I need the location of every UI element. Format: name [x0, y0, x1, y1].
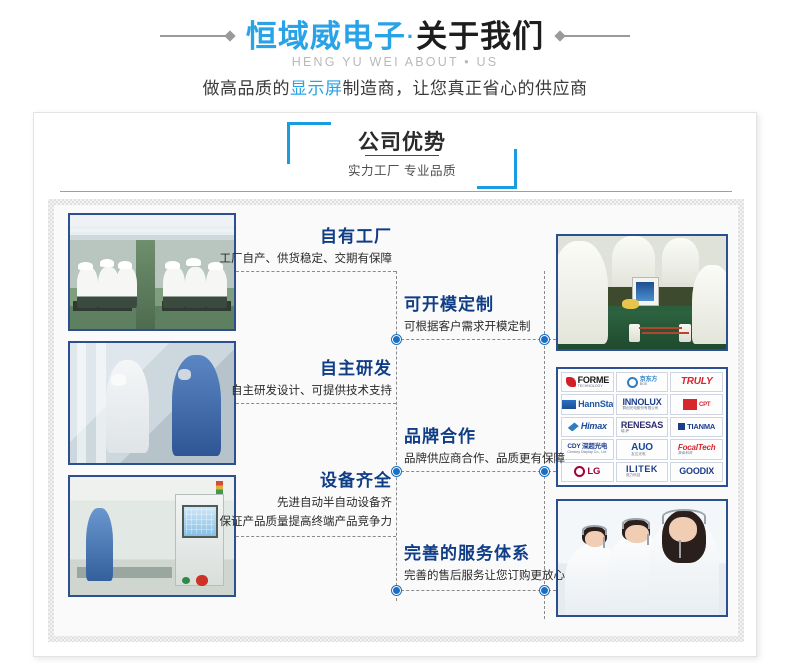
- feature-service-system: 完善的服务体系 完善的售后服务让您订购更放心: [404, 544, 564, 586]
- brand-name: TIANMA: [687, 423, 715, 431]
- leader-left-1: [236, 271, 396, 272]
- diamond-icon: [224, 30, 235, 41]
- feature-title: 自主研发: [188, 359, 392, 379]
- brand-name: INNOLUX群创光电股份有限公司: [622, 398, 661, 411]
- feature-custom-mold: 可开模定制 可根据客户需求开模定制: [404, 295, 554, 337]
- leader-right-2: [396, 471, 556, 472]
- brand-logo-innolux: INNOLUX群创光电股份有限公司: [622, 398, 661, 411]
- brand-name: FORMETECHNOLOGY: [578, 376, 610, 389]
- brand-cell: FocalTech敦泰科技: [670, 439, 723, 459]
- brand-logo-tianma: TIANMA: [678, 423, 715, 431]
- feature-own-factory: 自有工厂 工厂自产、供货稳定、交期有保障: [188, 227, 392, 269]
- brand-logo-himax: Himax: [568, 422, 607, 431]
- brand-logo-cpt: CPT: [683, 399, 710, 410]
- brand-cell: TIANMA: [670, 417, 723, 437]
- brand-name: FocalTech敦泰科技: [678, 444, 715, 456]
- brand-mark-icon: [561, 400, 576, 409]
- diamond-icon: [554, 30, 565, 41]
- tagline-part-2: 制造商，让您真正省心的供应商: [343, 79, 588, 98]
- page-title-section: 关于我们: [416, 19, 544, 54]
- brand-cell: TRULY: [670, 372, 723, 392]
- brand-mark-icon: [627, 377, 638, 388]
- brand-cell: HannStar: [561, 394, 614, 414]
- section-heading: 公司优势 实力工厂 专业品质: [287, 122, 517, 184]
- feature-desc: 工厂自产、供货稳定、交期有保障: [188, 251, 392, 268]
- custom-mold-assembly-photo: [556, 234, 728, 351]
- page-title: 恒域威电子·关于我们: [246, 21, 544, 52]
- section-title-rule: [365, 155, 439, 156]
- brand-cell: FORMETECHNOLOGY: [561, 372, 614, 392]
- feature-desc: 品牌供应商合作、品质更有保障: [404, 451, 564, 468]
- feature-title: 自有工厂: [188, 227, 392, 247]
- brand-subtitle: 敦泰科技: [678, 452, 715, 456]
- feature-title: 设备齐全: [168, 471, 392, 491]
- brand-cell: LG: [561, 462, 614, 482]
- brand-cell: CPT: [670, 394, 723, 414]
- feature-desc: 自主研发设计、可提供技术支持: [188, 383, 392, 400]
- brand-subtitle: 群创光电股份有限公司: [622, 407, 661, 411]
- brand-name: AUO友达光电: [631, 443, 653, 457]
- brand-name: RENESAS瑞 萨: [621, 421, 663, 434]
- leader-left-3: [236, 536, 396, 537]
- brand-logo-grid: FORMETECHNOLOGY京东方BOETRULYHannStarINNOLU…: [556, 367, 728, 487]
- brand-mark-icon: [566, 377, 576, 387]
- brand-subtitle: 瑞 萨: [621, 430, 663, 434]
- timeline-spine-left: [396, 271, 397, 601]
- brand-name: Himax: [581, 422, 607, 431]
- page-title-brand: 恒域威电子: [246, 19, 406, 54]
- brand-logo-renesas: RENESAS瑞 萨: [621, 421, 663, 434]
- advantages-panel: 公司优势 实力工厂 专业品质: [33, 112, 757, 657]
- brand-mark-icon: [683, 399, 697, 410]
- brand-logo-focaltech: FocalTech敦泰科技: [678, 444, 715, 456]
- title-separator-dot: ·: [406, 24, 416, 49]
- brand-logo-auo: AUO友达光电: [631, 443, 653, 457]
- right-decorative-line: [558, 35, 630, 37]
- brand-mark-icon: [568, 422, 579, 431]
- brand-logo-ilitek: ILITEK奕力科技: [626, 465, 658, 478]
- feature-desc: 完善的售后服务让您订购更放心: [404, 568, 564, 585]
- feature-brand-cooperation: 品牌合作 品牌供应商合作、品质更有保障: [404, 427, 564, 469]
- brand-cell: CDY 深超光电Century Display Co., Ltd: [561, 439, 614, 459]
- brand-subtitle: 奕力科技: [626, 474, 658, 478]
- customer-service-team-photo: [556, 499, 728, 617]
- tagline-highlight: 显示屏: [290, 79, 343, 98]
- brand-cell: GOODIX: [670, 462, 723, 482]
- feature-desc-line-1: 先进自动半自动设备齐: [168, 495, 392, 512]
- brand-cell: 京东方BOE: [616, 372, 669, 392]
- leader-left-2: [236, 403, 396, 404]
- feature-title: 可开模定制: [404, 295, 554, 315]
- timeline-node-3: [392, 586, 401, 595]
- brand-logo-cdy: CDY 深超光电Century Display Co., Ltd: [567, 444, 607, 454]
- brand-name: CPT: [699, 402, 710, 408]
- brand-subtitle: BOE: [640, 383, 657, 387]
- about-us-page: 恒域威电子·关于我们 HENG YU WEI ABOUT • US 做高品质的显…: [0, 0, 790, 668]
- leader-right-3: [396, 590, 556, 591]
- leader-right-1: [396, 339, 556, 340]
- brand-mark-icon: [678, 423, 685, 430]
- section-title: 公司优势: [287, 126, 517, 156]
- brand-subtitle: TECHNOLOGY: [578, 385, 610, 389]
- header-divider: [60, 191, 732, 192]
- brand-subtitle: 友达光电: [631, 453, 653, 457]
- feature-self-rnd: 自主研发 自主研发设计、可提供技术支持: [188, 359, 392, 401]
- page-tagline: 做高品质的显示屏制造商，让您真正省心的供应商: [0, 74, 790, 99]
- brand-name: 京东方BOE: [640, 377, 657, 387]
- brand-logo-lg: LG: [574, 466, 600, 477]
- brand-subtitle: Century Display Co., Ltd: [567, 451, 607, 455]
- brand-logo-truly: TRULY: [681, 377, 713, 387]
- brand-mark-icon: [574, 466, 585, 477]
- feature-title: 完善的服务体系: [404, 544, 564, 564]
- brand-logo-goodix: GOODIX: [679, 467, 714, 476]
- content-texture-area: FORMETECHNOLOGY京东方BOETRULYHannStarINNOLU…: [48, 199, 744, 642]
- timeline-node-1: [392, 335, 401, 344]
- brand-name: HannStar: [578, 400, 614, 409]
- timeline-node-6: [540, 586, 549, 595]
- brand-name: ILITEK奕力科技: [626, 465, 658, 478]
- feature-full-equipment: 设备齐全 先进自动半自动设备齐 保证产品质量提高终端产品竞争力: [168, 471, 392, 531]
- brand-cell: AUO友达光电: [616, 439, 669, 459]
- brand-name: TRULY: [681, 377, 713, 387]
- feature-desc-line-2: 保证产品质量提高终端产品竞争力: [168, 514, 392, 531]
- title-row: 恒域威电子·关于我们: [0, 14, 790, 58]
- brand-name: GOODIX: [679, 467, 714, 476]
- brand-name: CDY 深超光电Century Display Co., Ltd: [567, 444, 607, 454]
- page-subtitle-english: HENG YU WEI ABOUT • US: [0, 55, 790, 69]
- brand-cell: RENESAS瑞 萨: [616, 417, 669, 437]
- brand-logo-forme: FORMETECHNOLOGY: [566, 376, 610, 389]
- feature-title: 品牌合作: [404, 427, 564, 447]
- brand-logo-hannstar: HannStar: [561, 400, 614, 409]
- timeline-node-2: [392, 467, 401, 476]
- tagline-part-1: 做高品质的: [203, 79, 291, 98]
- brand-grid-container: FORMETECHNOLOGY京东方BOETRULYHannStarINNOLU…: [561, 372, 723, 482]
- brand-cell: INNOLUX群创光电股份有限公司: [616, 394, 669, 414]
- brand-cell: Himax: [561, 417, 614, 437]
- brand-logo-boe: 京东方BOE: [627, 377, 657, 388]
- feature-desc: 可根据客户需求开模定制: [404, 319, 554, 336]
- brand-name: LG: [587, 467, 600, 477]
- brand-cell: ILITEK奕力科技: [616, 462, 669, 482]
- page-header: 恒域威电子·关于我们 HENG YU WEI ABOUT • US 做高品质的显…: [0, 0, 790, 110]
- left-decorative-line: [160, 35, 232, 37]
- section-subtitle: 实力工厂 专业品质: [287, 160, 517, 179]
